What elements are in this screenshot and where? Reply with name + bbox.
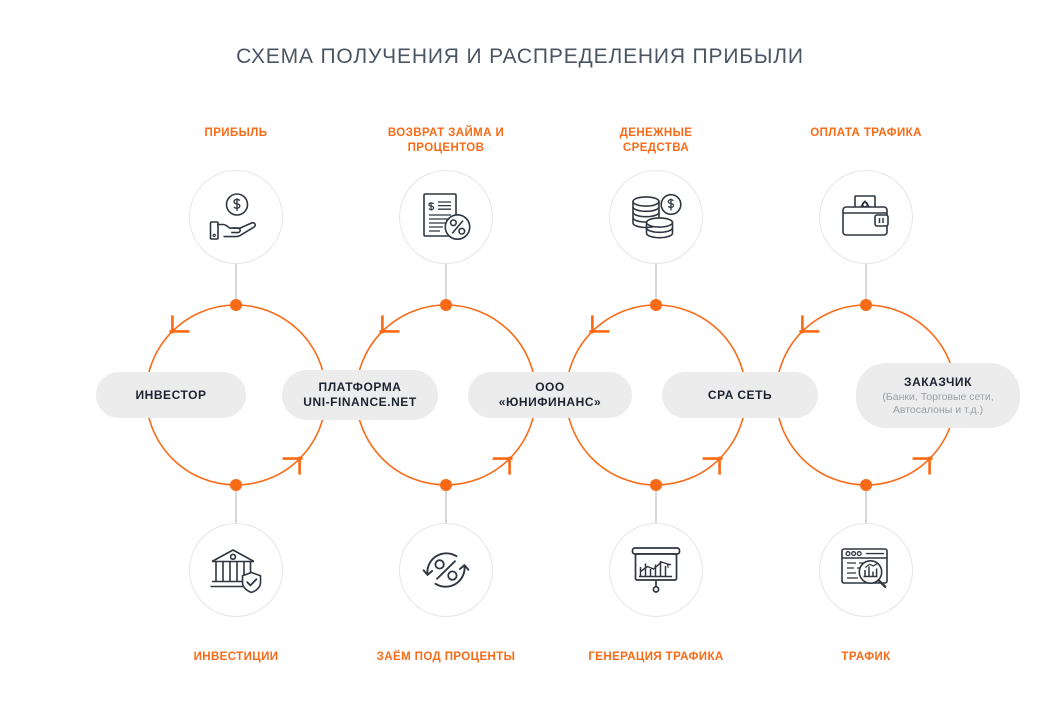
node-company[interactable]: ООО «ЮНИФИНАНС» bbox=[468, 372, 632, 418]
icon-circle-loan-return bbox=[399, 170, 493, 264]
icon-circle-investments bbox=[189, 523, 283, 617]
hand-with-coin-icon bbox=[208, 191, 264, 243]
caption-top-1: ПРИБЫЛЬ bbox=[136, 126, 336, 141]
caption-bottom-4: ТРАФИК bbox=[766, 650, 966, 665]
caption-top-2: ВОЗВРАТ ЗАЙМА И ПРОЦЕНТОВ bbox=[346, 126, 546, 156]
caption-bottom-3: ГЕНЕРАЦИЯ ТРАФИКА bbox=[556, 650, 756, 665]
caption-top-3: ДЕНЕЖНЫЕ СРЕДСТВА bbox=[556, 126, 756, 156]
caption-top-4: ОПЛАТА ТРАФИКА bbox=[766, 126, 966, 141]
node-customer-subtitle: (Банки, Торговые сети, Автосалоны и т.д.… bbox=[882, 391, 993, 417]
node-cpa-network-title: CPA СЕТЬ bbox=[708, 388, 772, 403]
node-investor[interactable]: ИНВЕСТОР bbox=[96, 372, 246, 418]
wallet-banknote-icon bbox=[838, 192, 894, 242]
coin-stacks-icon bbox=[628, 191, 684, 243]
icon-circle-profit bbox=[189, 170, 283, 264]
node-cpa-network[interactable]: CPA СЕТЬ bbox=[662, 372, 818, 418]
node-company-title: ООО «ЮНИФИНАНС» bbox=[486, 380, 614, 410]
icon-circle-traffic-payment bbox=[819, 170, 913, 264]
browser-analytics-search-icon bbox=[839, 546, 893, 594]
diagram-canvas: СХЕМА ПОЛУЧЕНИЯ И РАСПРЕДЕЛЕНИЯ ПРИБЫЛИ bbox=[0, 0, 1040, 705]
icon-circle-cash bbox=[609, 170, 703, 264]
node-platform-title: ПЛАТФОРМА UNI-FINANCE.NET bbox=[303, 380, 416, 410]
caption-bottom-2: ЗАЁМ ПОД ПРОЦЕНТЫ bbox=[346, 650, 546, 665]
invoice-percent-icon bbox=[419, 190, 473, 244]
node-customer[interactable]: ЗАКАЗЧИК (Банки, Торговые сети, Автосало… bbox=[856, 363, 1020, 428]
icon-circle-traffic bbox=[819, 523, 913, 617]
node-investor-title: ИНВЕСТОР bbox=[135, 388, 206, 403]
caption-bottom-1: ИНВЕСТИЦИИ bbox=[136, 650, 336, 665]
node-platform[interactable]: ПЛАТФОРМА UNI-FINANCE.NET bbox=[282, 370, 438, 420]
percent-refresh-icon bbox=[420, 544, 472, 596]
icon-circle-interest-loan bbox=[399, 523, 493, 617]
node-customer-title: ЗАКАЗЧИК bbox=[904, 375, 972, 390]
icon-circle-traffic-generation bbox=[609, 523, 703, 617]
bank-shield-check-icon bbox=[209, 546, 263, 594]
presentation-chart-icon bbox=[629, 545, 683, 595]
